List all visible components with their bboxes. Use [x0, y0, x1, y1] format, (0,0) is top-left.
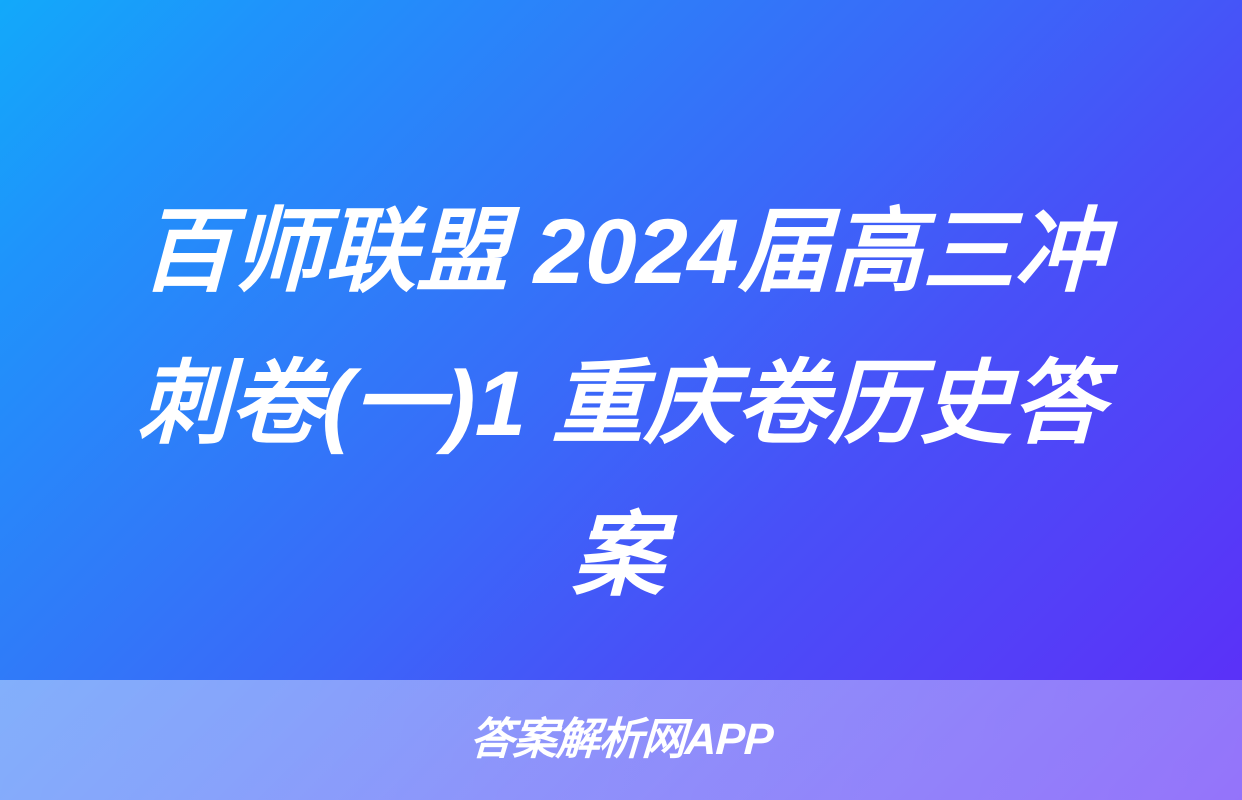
- watermark-band: 答案解析网APP: [0, 680, 1242, 800]
- page-title-line-3: 案: [70, 480, 1167, 632]
- page-title-line-1: 百师联盟 2024届高三冲: [75, 176, 1172, 328]
- promo-cover-card: 百师联盟 2024届高三冲 刺卷(一)1 重庆卷历史答 案 答案解析网APP: [0, 0, 1242, 800]
- page-title: 百师联盟 2024届高三冲 刺卷(一)1 重庆卷历史答 案: [0, 176, 1242, 632]
- page-title-line-2: 刺卷(一)1 重庆卷历史答: [73, 328, 1170, 480]
- app-watermark-label: 答案解析网APP: [469, 718, 774, 762]
